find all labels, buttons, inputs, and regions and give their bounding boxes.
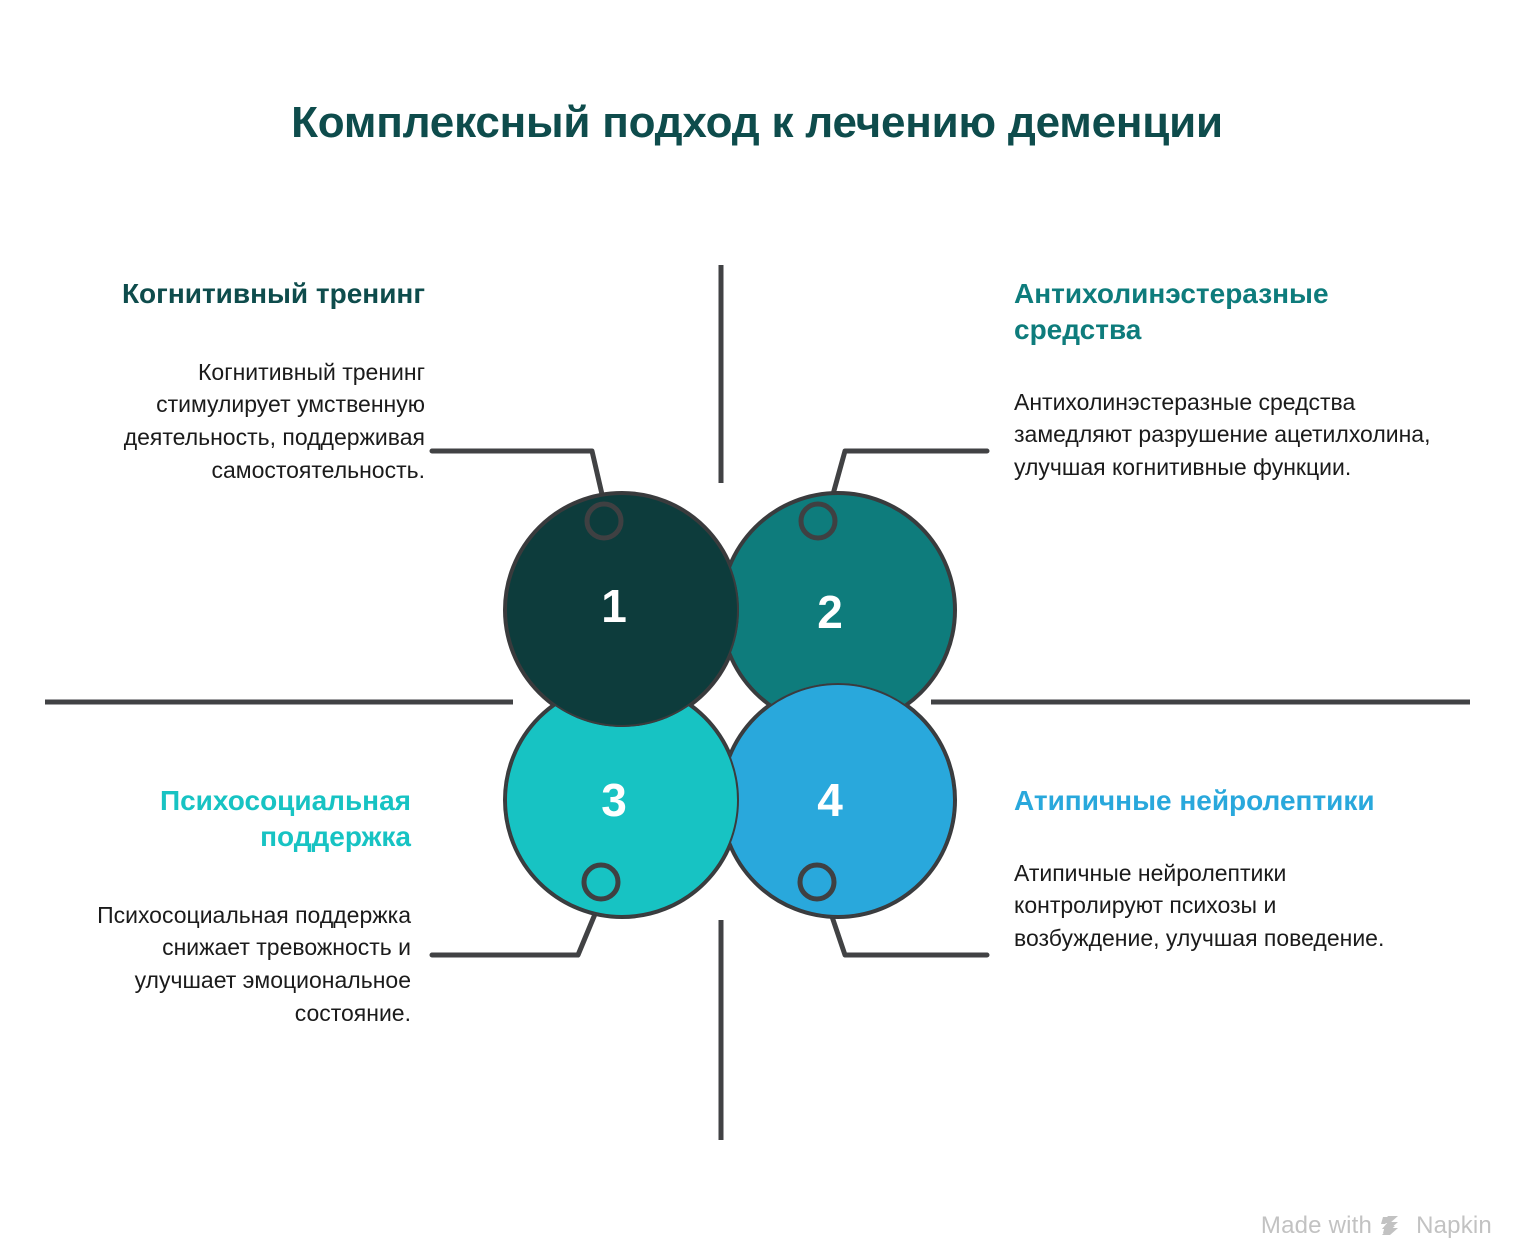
napkin-chevrons-icon [1381, 1215, 1407, 1237]
quadrant-body-4: Атипичные нейролептики контролируют псих… [1014, 857, 1414, 955]
quadrant-heading-2: Антихолинэстеразные средства [1014, 276, 1454, 348]
quadrant-body-1: Когнитивный тренинг стимулирует умственн… [70, 356, 425, 487]
quadrant-heading-1: Когнитивный тренинг [70, 276, 425, 312]
quadrant-body-2: Антихолинэстеразные средства замедляют р… [1014, 386, 1454, 484]
circle-number-2: 2 [817, 586, 843, 638]
circle-number-3: 3 [601, 774, 627, 826]
circle-number-4: 4 [817, 774, 843, 826]
quadrant-bottom-left: Психосоциальная поддержка Психосоциальна… [66, 783, 411, 1029]
diagram-svg: 1 2 3 4 [0, 0, 1514, 1256]
watermark: Made with Napkin [1261, 1212, 1492, 1240]
quadrant-heading-3: Психосоциальная поддержка [66, 783, 411, 855]
quadrant-body-3: Психосоциальная поддержка снижает тревож… [66, 899, 411, 1030]
watermark-prefix: Made with [1261, 1212, 1372, 1240]
watermark-brand: Napkin [1416, 1212, 1492, 1240]
quadrant-bottom-right: Атипичные нейролептики Атипичные нейроле… [1014, 783, 1414, 955]
quadrant-top-right: Антихолинэстеразные средства Антихолинэс… [1014, 276, 1454, 484]
quadrant-top-left: Когнитивный тренинг Когнитивный тренинг … [70, 276, 425, 486]
quadrant-heading-4: Атипичные нейролептики [1014, 783, 1414, 819]
circle-number-1: 1 [601, 580, 627, 632]
infographic-canvas: Комплексный подход к лечению деменции [0, 0, 1514, 1256]
